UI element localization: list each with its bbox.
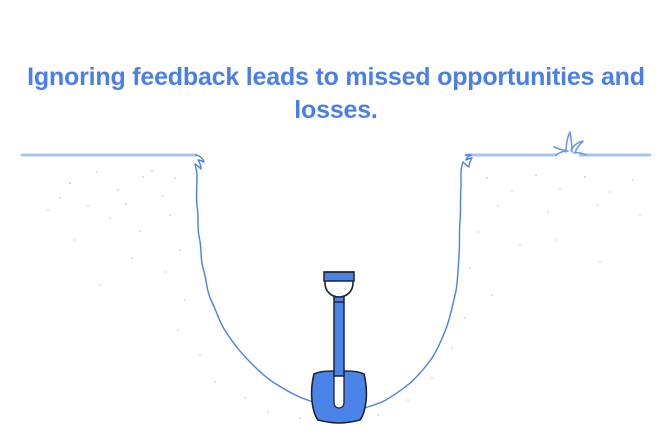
shovel-in-pit-illustration — [0, 0, 672, 431]
shovel-shaft — [334, 296, 344, 376]
shovel-handle-grip — [324, 272, 354, 297]
shovel-blade — [312, 371, 367, 423]
grass-tuft — [554, 132, 586, 155]
shovel — [312, 272, 367, 423]
slide-canvas: Ignoring feedback leads to missed opport… — [0, 0, 672, 431]
